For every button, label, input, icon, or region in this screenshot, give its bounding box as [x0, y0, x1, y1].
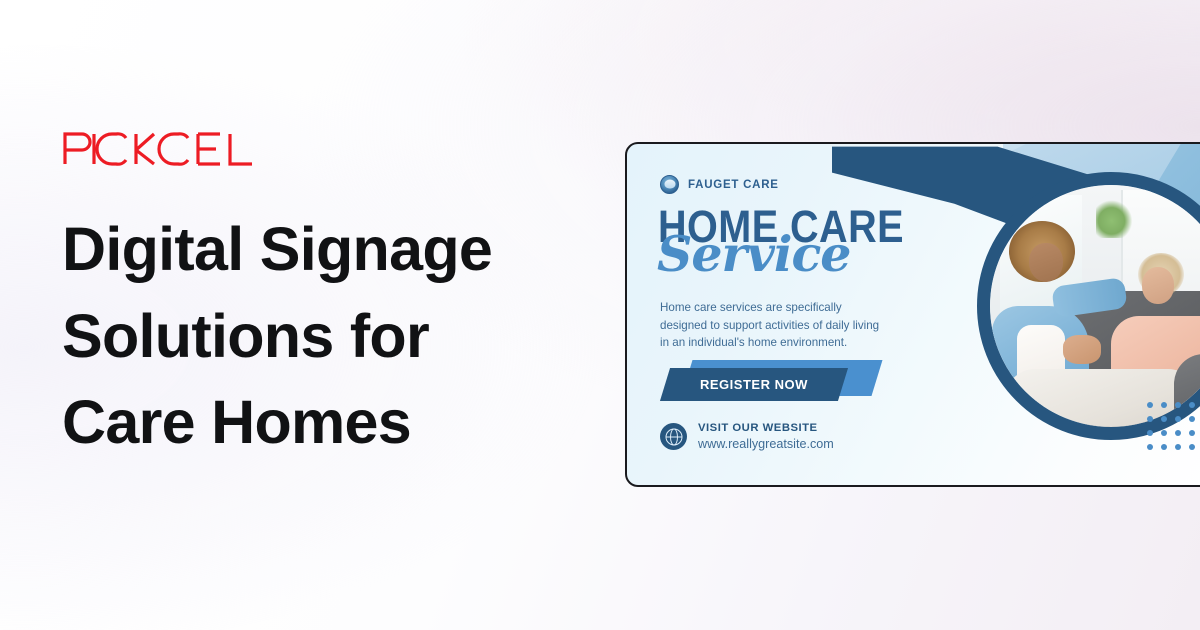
card-body-line-1: Home care services are specifically — [660, 299, 912, 317]
headline-line-2: Solutions for — [62, 293, 602, 380]
visit-website-row[interactable]: VISIT OUR WEBSITE www.reallygreatsite.co… — [660, 421, 834, 452]
headline-line-1: Digital Signage — [62, 206, 602, 293]
caregiver-with-elderly-woman-photo — [977, 172, 1200, 440]
headline-line-3: Care Homes — [62, 379, 602, 466]
card-brand-name: FAUGET CARE — [688, 179, 779, 191]
register-button-face[interactable]: REGISTER NOW — [660, 368, 848, 401]
register-now-button[interactable]: REGISTER NOW — [649, 366, 879, 404]
website-url[interactable]: www.reallygreatsite.com — [698, 436, 834, 452]
pickcel-wordmark-logo[interactable] — [62, 128, 258, 168]
globe-icon — [660, 423, 687, 450]
card-body-line-2: designed to support activities of daily … — [660, 317, 912, 335]
visit-website-label: VISIT OUR WEBSITE — [698, 421, 834, 436]
digital-signage-preview-card[interactable]: FAUGET CARE HOME CARE Service Home care … — [625, 142, 1200, 487]
card-title-script: Service — [657, 230, 850, 279]
card-brand-row: FAUGET CARE — [660, 175, 779, 194]
hero-left-block: Digital Signage Solutions for Care Homes — [62, 128, 602, 466]
card-body-copy: Home care services are specifically desi… — [660, 299, 912, 352]
card-body-line-3: in an individual's home environment. — [660, 334, 912, 352]
dot-grid-pattern — [1147, 402, 1200, 458]
fauget-care-shield-icon — [660, 175, 679, 194]
page-title: Digital Signage Solutions for Care Homes — [62, 206, 602, 466]
register-button-label: REGISTER NOW — [700, 377, 808, 392]
